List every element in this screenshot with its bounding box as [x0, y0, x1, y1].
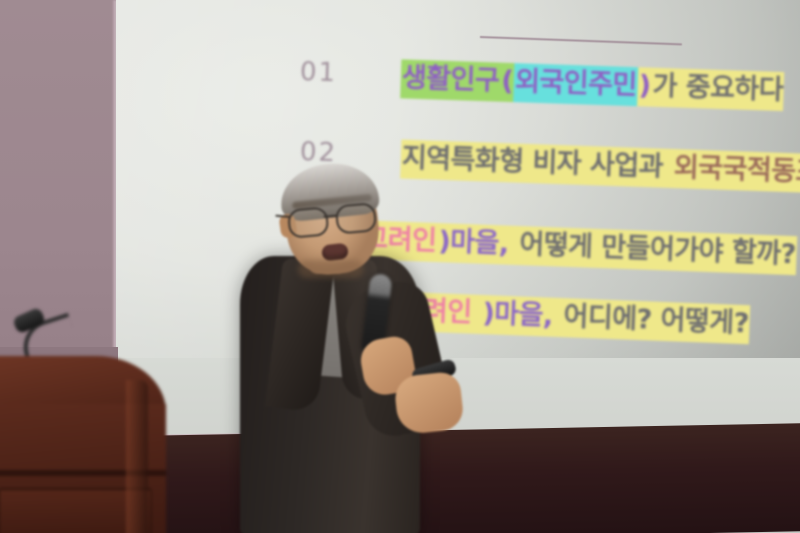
- podium-side-edge: [126, 380, 148, 533]
- slide-segment: 어떻게 만들어가야 할까?: [518, 226, 798, 275]
- lens-right: [335, 202, 377, 234]
- chin-shadow: [298, 260, 364, 278]
- slide-item-text: 생활인구(외국인주민)가 중요하다: [400, 55, 784, 107]
- slide-segment: )마을,: [481, 295, 564, 337]
- slide-item-number: 01: [300, 57, 338, 88]
- slide-segment: 가 중요하다: [651, 68, 785, 111]
- lens-left: [287, 206, 329, 238]
- speaker-figure: [230, 168, 460, 533]
- slide-segment: 어디에? 어떻게?: [562, 298, 751, 344]
- glasses-bridge: [324, 215, 337, 218]
- slide-divider-rule: [480, 36, 682, 45]
- slide-segment: 외국인주민: [513, 63, 638, 106]
- podium: [0, 352, 176, 533]
- presentation-scene: 01 생활인구(외국인주민)가 중요하다 02 지역특화형 비자 사업과 외국국…: [0, 0, 800, 533]
- slide-segment: 생활인구: [400, 59, 501, 101]
- slide-segment: ): [637, 67, 652, 106]
- slide-segment: 외국국적동포: [672, 149, 800, 193]
- slide-item-01: 01 생활인구(외국인주민)가 중요하다: [299, 52, 784, 107]
- slide-item-text: 지역특화형 비자 사업과 외국국적동포: [400, 136, 800, 190]
- hand-holding-remote: [393, 371, 465, 436]
